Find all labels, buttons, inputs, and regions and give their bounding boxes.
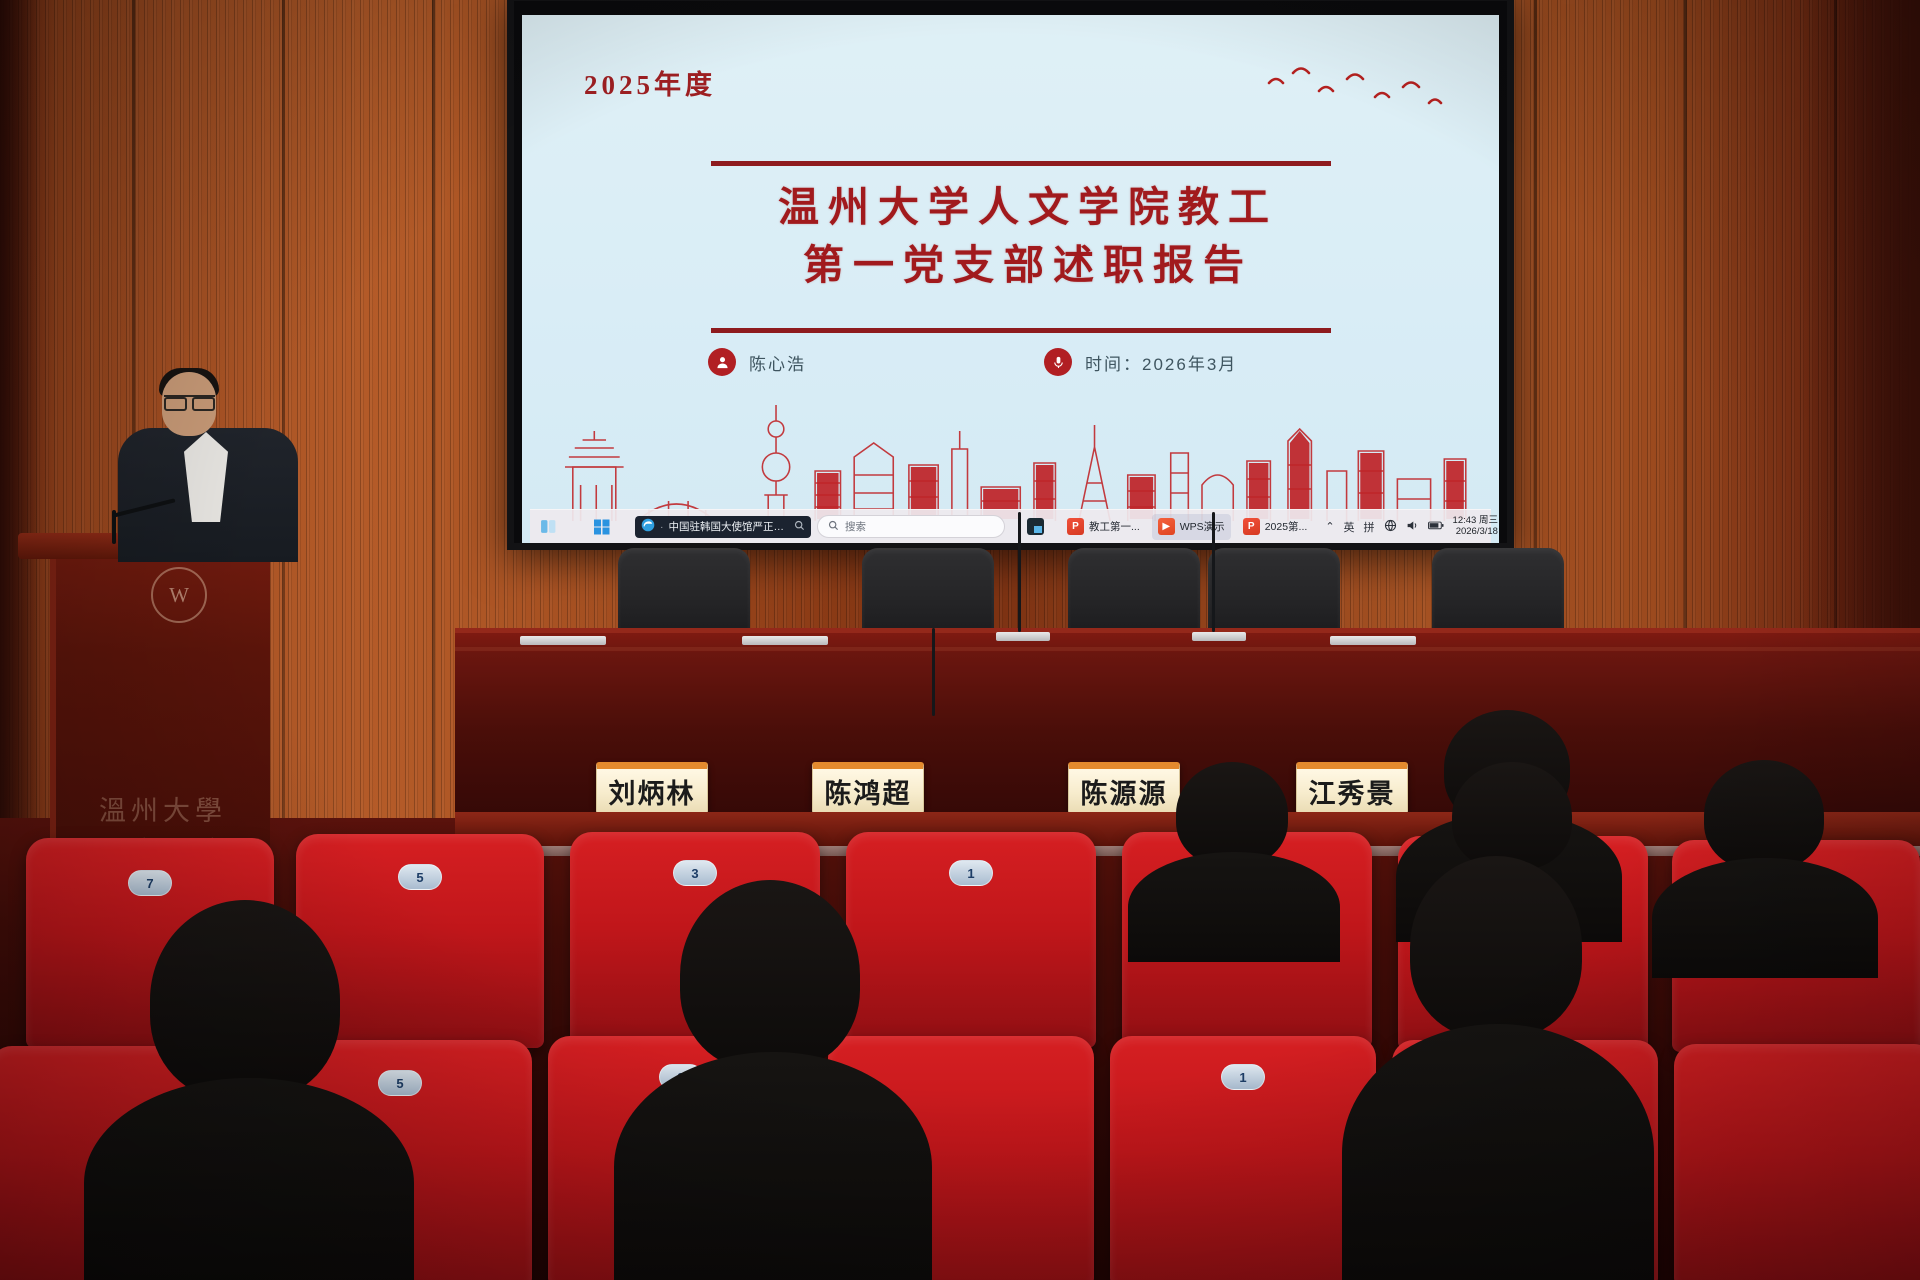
head-table-chair (1068, 548, 1200, 640)
seat-number: 7 (128, 870, 172, 896)
audience-person-shoulders (1652, 858, 1878, 978)
audience-person-shoulders (1342, 1024, 1654, 1280)
audience-person-shoulders (614, 1052, 932, 1280)
nameplate-text: 陈鸿超 (825, 772, 912, 811)
nameplate: 江秀景 (1296, 762, 1408, 814)
title-rule-top (711, 161, 1331, 166)
nameplate-text: 江秀景 (1309, 772, 1396, 811)
desk-device (1192, 632, 1246, 641)
search-icon[interactable] (794, 520, 805, 534)
head-table-chair (1432, 548, 1564, 640)
nameplate: 刘炳林 (596, 762, 708, 814)
clock-date: 2026/3/18 (1453, 527, 1498, 538)
audience-chair-front (1674, 1044, 1920, 1280)
presentation-slide: 2025年度 温州大学人文学院教工 第一党支部 (522, 15, 1499, 543)
taskbar-app-wps-slideshow[interactable]: ▶ WPS演示 (1152, 514, 1231, 540)
desk-nameplate-blank (1330, 636, 1416, 645)
presenter-name: 陈心浩 (749, 350, 806, 375)
nameplate-text: 陈源源 (1081, 772, 1168, 811)
edge-icon (641, 518, 655, 535)
audience-person-head (1176, 762, 1288, 866)
seat-number: 1 (949, 860, 993, 886)
audience-person-head (680, 880, 860, 1070)
clock-time: 12:43 周三 (1453, 516, 1498, 527)
title-rule-bottom (711, 328, 1331, 333)
slide-title-line-1: 温州大学人文学院教工 (708, 178, 1348, 236)
slide-meta-row: 陈心浩 时间：2026年3月 (708, 348, 1368, 376)
chevron-up-icon[interactable]: ⌃ (1325, 520, 1334, 533)
microphone-icon (1044, 348, 1072, 376)
nameplate-text: 刘炳林 (609, 772, 696, 811)
taskbar-app-wps-presentation-2[interactable]: P 2025第... (1237, 514, 1314, 540)
desk-microphone (1212, 512, 1215, 632)
conference-hall-scene: 2025年度 温州大学人文学院教工 第一党支部 (0, 0, 1920, 1280)
windows-start-icon[interactable] (591, 516, 613, 538)
seat-number: 5 (398, 864, 442, 890)
head-table-chair (862, 548, 994, 640)
taskbar-app-wps-presentation-1[interactable]: P 教工第一... (1061, 514, 1146, 540)
taskbar-app-label: WPS演示 (1180, 519, 1225, 534)
audience-person-head (1410, 856, 1582, 1038)
search-input[interactable]: 搜索 (817, 515, 1005, 538)
taskbar-app-file-explorer[interactable] (1021, 514, 1055, 540)
slide-title: 温州大学人文学院教工 第一党支部述职报告 (708, 178, 1348, 294)
seat-number: 5 (378, 1070, 422, 1096)
seat-number: 3 (673, 860, 717, 886)
eyeglasses-icon (164, 395, 215, 405)
seat-number: 1 (1221, 1064, 1265, 1090)
head-table-chair (1208, 548, 1340, 640)
city-skyline-illustration (522, 401, 1499, 521)
battery-icon[interactable] (1428, 520, 1444, 534)
speaker-person (118, 372, 298, 562)
presentation-date: 时间：2026年3月 (1085, 350, 1237, 375)
file-explorer-icon (1027, 518, 1044, 535)
taskbar-app-label: 教工第一... (1089, 519, 1140, 534)
ime-mode-indicator[interactable]: 拼 (1364, 519, 1375, 535)
volume-icon[interactable] (1406, 519, 1419, 535)
slide-title-line-2: 第一党支部述职报告 (708, 236, 1348, 294)
search-icon (828, 520, 839, 534)
desk-nameplate-blank (520, 636, 606, 645)
audience-chair: 1 (846, 832, 1096, 1048)
nameplate: 陈鸿超 (812, 762, 924, 814)
slide-year-label: 2025年度 (584, 63, 716, 102)
desk-microphone (932, 628, 935, 716)
ime-language-indicator[interactable]: 英 (1344, 519, 1355, 535)
windows-taskbar[interactable]: · 中国驻韩国大使馆严正发... 搜索 (530, 509, 1491, 543)
desk-microphone (1018, 512, 1021, 632)
desk-nameplate-blank (742, 636, 828, 645)
wps-presentation-icon: P (1243, 518, 1260, 535)
system-tray[interactable]: ⌃ 英 拼 (1325, 516, 1499, 538)
wps-slideshow-icon: ▶ (1158, 518, 1175, 535)
wps-presentation-icon: P (1067, 518, 1084, 535)
news-widget[interactable]: · 中国驻韩国大使馆严正发... (635, 516, 811, 538)
network-icon[interactable] (1384, 519, 1397, 535)
head-table-chair (618, 548, 750, 640)
nameplate: 陈源源 (1068, 762, 1180, 814)
audience-person-head (1704, 760, 1824, 870)
taskbar-app-label: 2025第... (1265, 519, 1308, 534)
audience-chair-front: 1 (1110, 1036, 1376, 1280)
desk-device (996, 632, 1050, 641)
audience-person-shoulders (84, 1078, 414, 1280)
audience-person-head (1452, 762, 1572, 870)
task-view-icon[interactable] (537, 516, 559, 538)
audience-person-head (150, 900, 340, 1100)
flying-birds-decoration (1263, 63, 1453, 115)
search-placeholder: 搜索 (845, 519, 866, 534)
news-separator: · (660, 521, 664, 533)
audience-person-shoulders (1128, 852, 1340, 962)
person-icon (708, 348, 736, 376)
taskbar-clock[interactable]: 12:43 周三 2026/3/18 (1453, 516, 1498, 538)
news-headline[interactable]: 中国驻韩国大使馆严正发... (669, 519, 790, 534)
university-crest-icon: W (151, 567, 207, 623)
projection-display: 2025年度 温州大学人文学院教工 第一党支部 (507, 0, 1514, 550)
podium-logo-cn-line-1: 溫州大學 (56, 789, 270, 828)
